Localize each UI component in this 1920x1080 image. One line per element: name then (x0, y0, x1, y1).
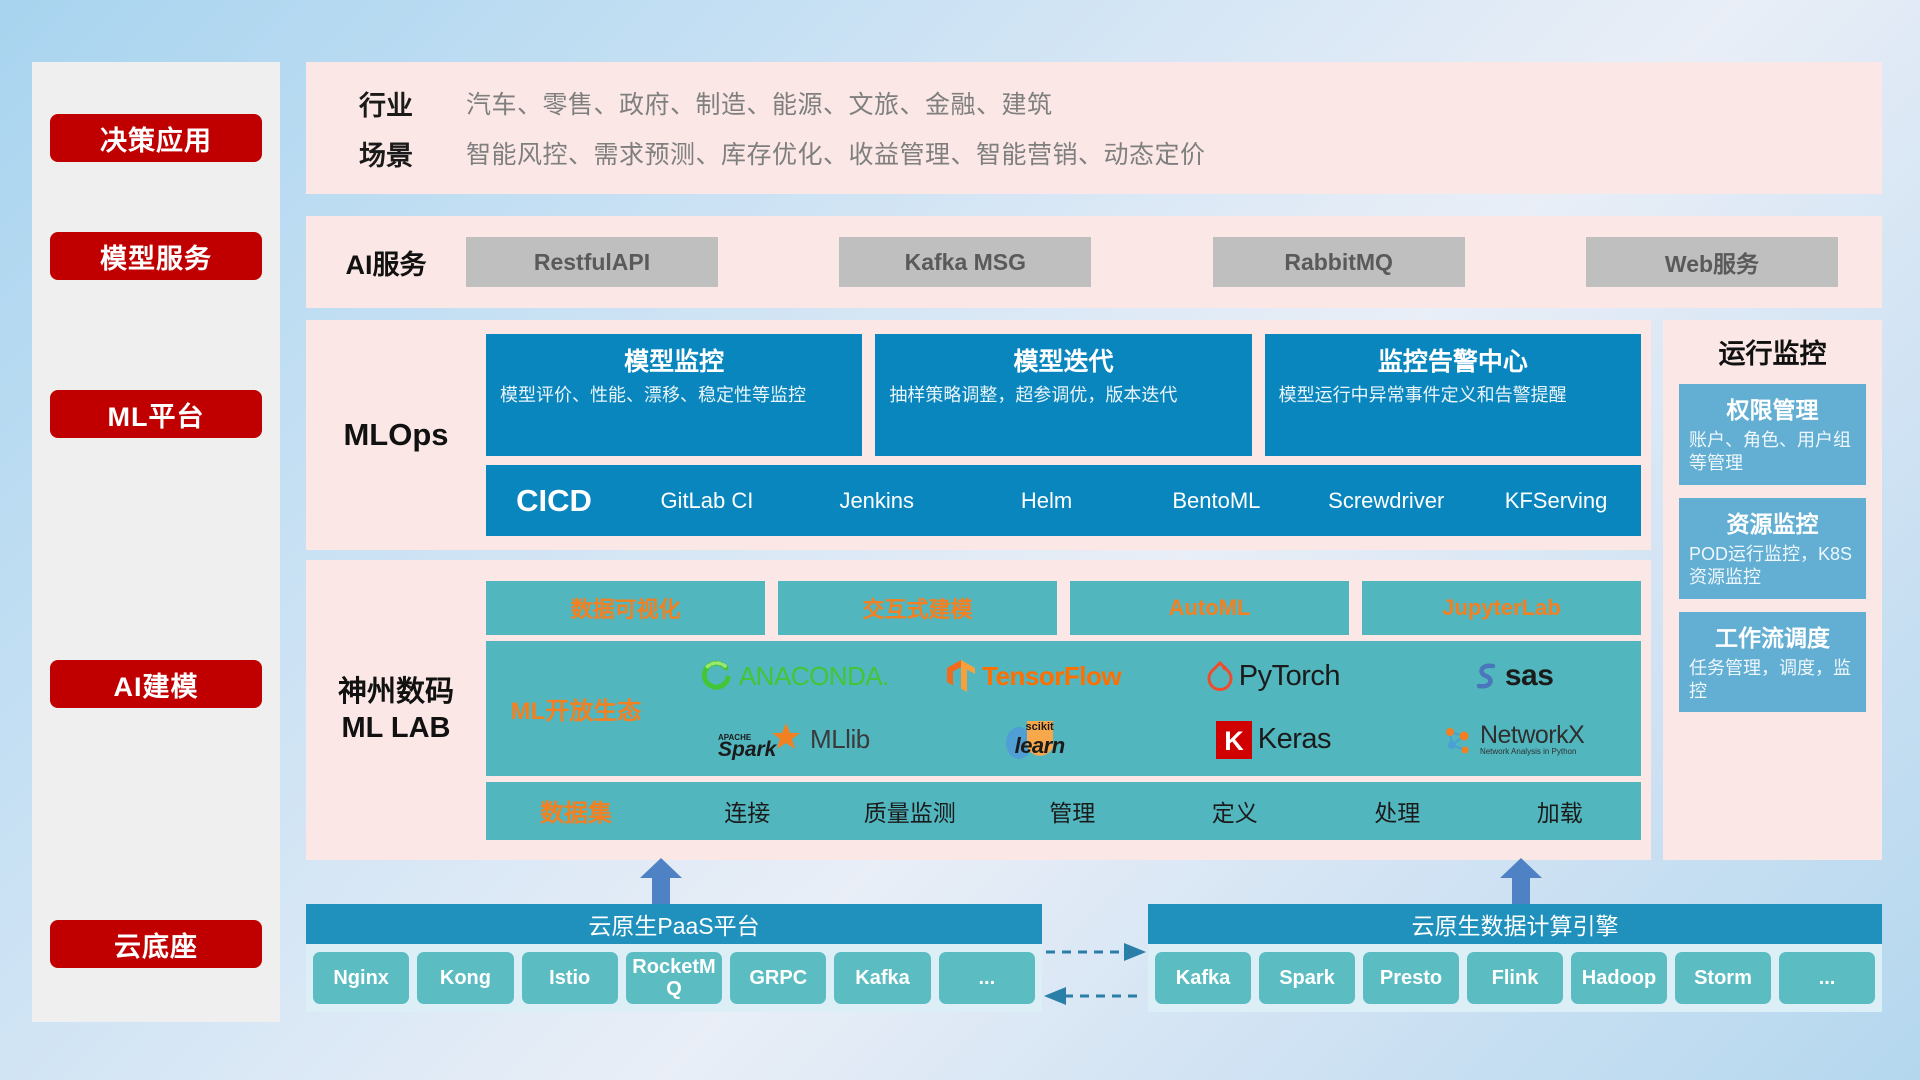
paas-chip-istio[interactable]: Istio (522, 952, 618, 1004)
engine-chip-more[interactable]: ... (1779, 952, 1875, 1004)
mlops-card-alert-center[interactable]: 监控告警中心 模型运行中异常事件定义和告警提醒 (1265, 334, 1641, 456)
cloud-base-paas-group: 云原生PaaS平台 Nginx Kong Istio RocketMQ GRPC… (306, 904, 1042, 1012)
mlops-panel: MLOps 模型监控 模型评价、性能、漂移、稳定性等监控 模型迭代 抽样策略调整… (306, 320, 1651, 550)
upward-arrow-paas (640, 858, 682, 902)
service-layer-panel: AI服务 RestfulAPI Kafka MSG RabbitMQ Web服务 (306, 216, 1882, 308)
dataset-item-connect[interactable]: 连接 (666, 794, 829, 828)
monitoring-card-title: 工作流调度 (1689, 619, 1856, 653)
upward-arrow-data-engine (1500, 858, 1542, 902)
scenario-label: 场景 (306, 134, 466, 173)
monitoring-card-desc: 账户、角色、用户组等管理 (1689, 429, 1856, 476)
sas-icon (1473, 661, 1499, 691)
keras-logo[interactable]: K Keras (1216, 721, 1331, 759)
rail-chip-model-service[interactable]: 模型服务 (50, 232, 262, 280)
anaconda-logo-text: ANACONDA. (739, 661, 889, 692)
ai-service-chip-list: RestfulAPI Kafka MSG RabbitMQ Web服务 (466, 237, 1882, 287)
pytorch-icon (1207, 660, 1233, 692)
scikit-learn-logo[interactable]: scikit learn (1003, 717, 1065, 763)
service-chip-kafka-msg[interactable]: Kafka MSG (839, 237, 1091, 287)
spark-mllib-logo[interactable]: APACHE Spark MLlib (718, 720, 870, 760)
monitoring-card-permission[interactable]: 权限管理 账户、角色、用户组等管理 (1679, 384, 1866, 485)
industry-label: 行业 (306, 84, 466, 123)
rail-chip-ai-modeling[interactable]: AI建模 (50, 660, 262, 708)
monitoring-panel: 运行监控 权限管理 账户、角色、用户组等管理 资源监控 POD运行监控，K8S资… (1663, 320, 1882, 860)
paas-title: 云原生PaaS平台 (306, 904, 1042, 944)
paas-chip-more[interactable]: ... (939, 952, 1035, 1004)
ml-ecosystem-band: ML开放生态 ANACONDA. TensorFlow (486, 641, 1641, 776)
data-engine-chip-list: Kafka Spark Presto Flink Hadoop Storm ..… (1148, 944, 1882, 1012)
scenario-value: 智能风控、需求预测、库存优化、收益管理、智能营销、动态定价 (466, 135, 1206, 171)
rail-chip-label: 云底座 (114, 925, 198, 964)
anaconda-logo[interactable]: ANACONDA. (699, 659, 889, 693)
monitoring-card-title: 资源监控 (1689, 505, 1856, 539)
service-chip-web-service[interactable]: Web服务 (1586, 237, 1838, 287)
dataset-label: 数据集 (486, 793, 666, 828)
ml-ecosystem-logo-grid: ANACONDA. TensorFlow PyTorch (666, 641, 1641, 776)
tab-data-visualization[interactable]: 数据可视化 (486, 581, 765, 635)
cloud-base-data-engine-group: 云原生数据计算引擎 Kafka Spark Presto Flink Hadoo… (1148, 904, 1882, 1012)
networkx-icon (1442, 723, 1474, 757)
networkx-logo-text: NetworkX (1480, 723, 1584, 748)
sas-logo[interactable]: sas (1473, 659, 1554, 693)
networkx-wordmark: NetworkX Network Analysis in Python (1480, 723, 1584, 756)
mlops-card-model-monitoring[interactable]: 模型监控 模型评价、性能、漂移、稳定性等监控 (486, 334, 862, 456)
rail-chip-label: ML平台 (108, 395, 205, 434)
paas-chip-grpc[interactable]: GRPC (730, 952, 826, 1004)
industry-value: 汽车、零售、政府、制造、能源、文旅、金融、建筑 (466, 85, 1053, 121)
cicd-tool-jenkins[interactable]: Jenkins (792, 487, 962, 515)
mlops-card-model-iteration[interactable]: 模型迭代 抽样策略调整，超参调优，版本迭代 (875, 334, 1251, 456)
ml-lab-label-line2: ML LAB (306, 710, 486, 746)
keras-icon: K (1216, 721, 1252, 759)
bidirectional-connector (1042, 938, 1148, 1010)
mllib-logo-text: MLlib (810, 724, 870, 755)
engine-chip-spark[interactable]: Spark (1259, 952, 1355, 1004)
mlops-card-desc: 模型运行中异常事件定义和告警提醒 (1279, 383, 1627, 407)
pytorch-logo[interactable]: PyTorch (1207, 660, 1340, 693)
sas-logo-text: sas (1505, 659, 1554, 693)
keras-logo-text: Keras (1258, 723, 1331, 756)
mlops-card-desc: 模型评价、性能、漂移、稳定性等监控 (500, 383, 848, 407)
cicd-tool-bentoml[interactable]: BentoML (1131, 487, 1301, 515)
scikit-icon (1003, 717, 1055, 763)
ml-lab-label: 神州数码 ML LAB (306, 674, 486, 747)
tab-jupyterlab[interactable]: JupyterLab (1362, 581, 1641, 635)
dataset-item-define[interactable]: 定义 (1154, 794, 1317, 828)
industry-row: 行业 汽车、零售、政府、制造、能源、文旅、金融、建筑 (306, 78, 1882, 128)
mlops-card-list: 模型监控 模型评价、性能、漂移、稳定性等监控 模型迭代 抽样策略调整，超参调优，… (486, 334, 1641, 456)
cicd-title: CICD (486, 483, 622, 519)
pytorch-logo-text: PyTorch (1239, 660, 1340, 693)
cicd-bar: CICD GitLab CI Jenkins Helm BentoML Scre… (486, 465, 1641, 536)
cicd-tool-screwdriver[interactable]: Screwdriver (1301, 487, 1471, 515)
mlops-label: MLOps (306, 417, 486, 453)
monitoring-card-desc: POD运行监控，K8S资源监控 (1689, 543, 1856, 590)
rail-chip-ml-platform[interactable]: ML平台 (50, 390, 262, 438)
rail-chip-cloud-base[interactable]: 云底座 (50, 920, 262, 968)
rail-chip-decision-app[interactable]: 决策应用 (50, 114, 262, 162)
mlops-card-title: 模型迭代 (889, 342, 1237, 378)
service-chip-label: RabbitMQ (1284, 249, 1393, 276)
paas-chip-rocketmq[interactable]: RocketMQ (626, 952, 722, 1004)
rail-chip-label: 决策应用 (100, 119, 212, 158)
paas-chip-nginx[interactable]: Nginx (313, 952, 409, 1004)
tensorflow-logo[interactable]: TensorFlow (946, 659, 1121, 693)
monitoring-card-resource[interactable]: 资源监控 POD运行监控，K8S资源监控 (1679, 498, 1866, 599)
monitoring-title: 运行监控 (1663, 320, 1882, 371)
service-chip-label: Kafka MSG (905, 249, 1026, 276)
data-engine-title: 云原生数据计算引擎 (1148, 904, 1882, 944)
dataset-item-quality[interactable]: 质量监测 (829, 794, 992, 828)
cicd-tool-list: GitLab CI Jenkins Helm BentoML Screwdriv… (622, 487, 1641, 515)
paas-chip-kafka[interactable]: Kafka (834, 952, 930, 1004)
engine-chip-hadoop[interactable]: Hadoop (1571, 952, 1667, 1004)
tensorflow-icon (946, 659, 976, 693)
scenario-row: 场景 智能风控、需求预测、库存优化、收益管理、智能营销、动态定价 (306, 128, 1882, 178)
service-chip-restfulapi[interactable]: RestfulAPI (466, 237, 718, 287)
anaconda-icon (699, 659, 733, 693)
paas-chip-kong[interactable]: Kong (417, 952, 513, 1004)
monitoring-card-workflow[interactable]: 工作流调度 任务管理，调度，监控 (1679, 612, 1866, 713)
rail-chip-label: AI建模 (114, 665, 199, 704)
mlops-card-title: 监控告警中心 (1279, 342, 1627, 378)
dataset-bar: 数据集 连接 质量监测 管理 定义 处理 加载 (486, 782, 1641, 840)
paas-chip-list: Nginx Kong Istio RocketMQ GRPC Kafka ... (306, 944, 1042, 1012)
engine-chip-flink[interactable]: Flink (1467, 952, 1563, 1004)
dataset-item-load[interactable]: 加载 (1479, 794, 1642, 828)
ml-lab-tab-list: 数据可视化 交互式建模 AutoML JupyterLab (486, 581, 1641, 635)
svg-text:Spark: Spark (718, 738, 778, 760)
rail-chip-label: 模型服务 (100, 237, 212, 276)
cicd-tool-kfserving[interactable]: KFServing (1471, 487, 1641, 515)
mlops-card-desc: 抽样策略调整，超参调优，版本迭代 (889, 383, 1237, 407)
networkx-logo[interactable]: NetworkX Network Analysis in Python (1442, 723, 1584, 757)
ml-ecosystem-label: ML开放生态 (486, 691, 666, 726)
engine-chip-storm[interactable]: Storm (1675, 952, 1771, 1004)
ml-lab-panel: 神州数码 ML LAB 数据可视化 交互式建模 AutoML JupyterLa… (306, 560, 1651, 860)
monitoring-card-title: 权限管理 (1689, 391, 1856, 425)
service-chip-rabbitmq[interactable]: RabbitMQ (1213, 237, 1465, 287)
tab-interactive-modeling[interactable]: 交互式建模 (778, 581, 1057, 635)
engine-chip-presto[interactable]: Presto (1363, 952, 1459, 1004)
tab-automl[interactable]: AutoML (1070, 581, 1349, 635)
layer-rail: 决策应用 模型服务 ML平台 AI建模 云底座 (32, 62, 280, 1022)
spark-icon: APACHE Spark (718, 720, 804, 760)
ml-lab-label-line1: 神州数码 (306, 674, 486, 710)
svg-text:K: K (1224, 726, 1244, 756)
cicd-tool-helm[interactable]: Helm (962, 487, 1132, 515)
dataset-item-list: 连接 质量监测 管理 定义 处理 加载 (666, 794, 1641, 828)
ai-service-label: AI服务 (306, 243, 466, 282)
service-chip-label: RestfulAPI (534, 249, 650, 276)
dataset-item-process[interactable]: 处理 (1316, 794, 1479, 828)
engine-chip-kafka[interactable]: Kafka (1155, 952, 1251, 1004)
application-layer-panel: 行业 汽车、零售、政府、制造、能源、文旅、金融、建筑 场景 智能风控、需求预测、… (306, 62, 1882, 194)
dataset-item-manage[interactable]: 管理 (991, 794, 1154, 828)
monitoring-card-desc: 任务管理，调度，监控 (1689, 657, 1856, 704)
tensorflow-logo-text: TensorFlow (982, 661, 1121, 692)
cicd-tool-gitlab-ci[interactable]: GitLab CI (622, 487, 792, 515)
service-chip-label: Web服务 (1665, 245, 1759, 279)
mlops-card-title: 模型监控 (500, 342, 848, 378)
